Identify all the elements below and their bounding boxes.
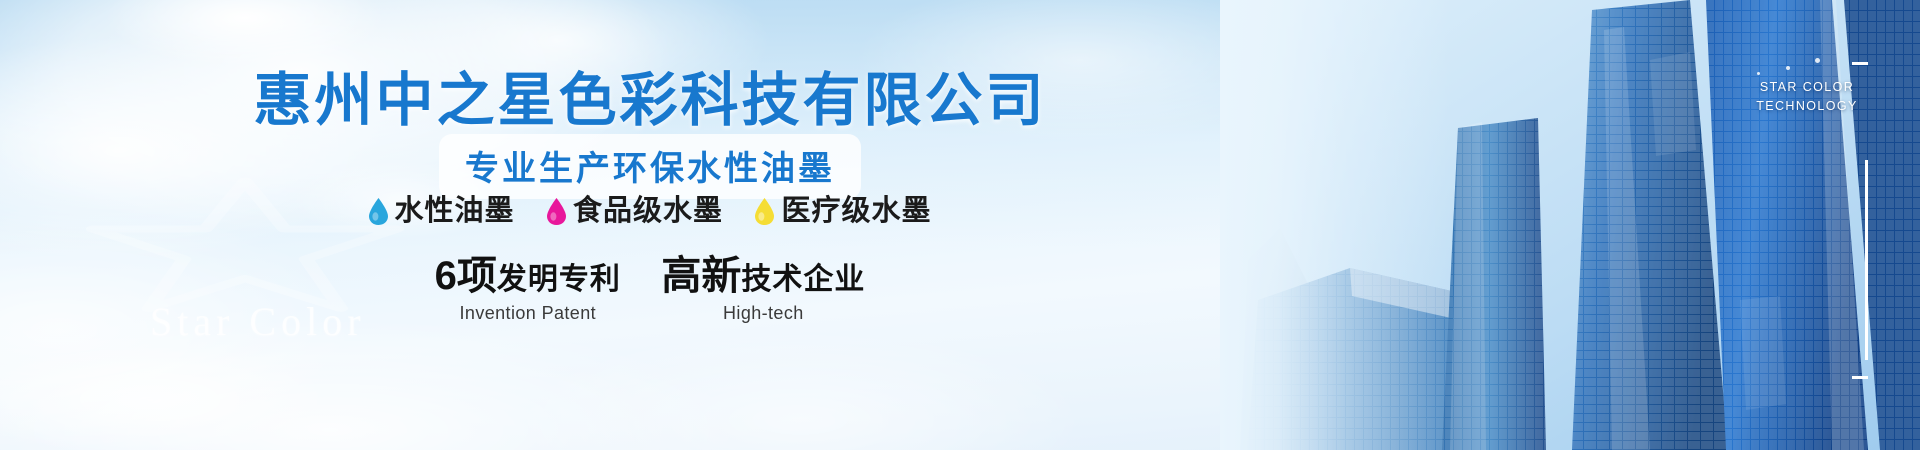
credential-rest: 技术企业 [741, 263, 865, 296]
brand-overlay-line-1: STAR COLOR [1742, 78, 1872, 97]
accent-tick-bottom [1852, 376, 1868, 379]
credential-highlight: 高新 [661, 254, 741, 298]
ink-product-item: 医疗级水墨 [755, 197, 931, 226]
accent-tick-top [1852, 62, 1868, 65]
credential-item-patent: 6项发明专利 Invention Patent [435, 256, 621, 324]
banner-content: 惠州中之星色彩科技有限公司 专业生产环保水性油墨 水性油墨 食品级水墨 [0, 0, 1300, 450]
accent-line-vertical [1865, 160, 1868, 360]
subtitle-container: 专业生产环保水性油墨 [0, 134, 1300, 199]
water-drop-icon [547, 198, 566, 225]
skyscraper-illustration [1220, 0, 1920, 450]
company-hero-banner: Star Color [0, 0, 1920, 450]
sparkle-icon [1786, 66, 1790, 70]
credential-list: 6项发明专利 Invention Patent 高新技术企业 High-tech [0, 256, 1300, 324]
credential-item-hightech: 高新技术企业 High-tech [661, 256, 865, 324]
brand-overlay-text: STAR COLOR TECHNOLOGY [1742, 78, 1872, 117]
water-drop-icon [755, 198, 774, 225]
ink-product-item: 水性油墨 [369, 197, 515, 226]
sparkle-icon [1757, 72, 1760, 75]
credential-highlight: 6项 [435, 254, 497, 298]
ink-product-label: 医疗级水墨 [781, 197, 931, 226]
credential-english: High-tech [661, 303, 865, 324]
company-title: 惠州中之星色彩科技有限公司 [0, 53, 1300, 137]
ink-product-label: 食品级水墨 [573, 197, 723, 226]
credential-rest: 发明专利 [497, 263, 621, 296]
credential-english: Invention Patent [435, 303, 621, 324]
subtitle-pill: 专业生产环保水性油墨 [439, 134, 861, 199]
ink-product-item: 食品级水墨 [547, 197, 723, 226]
sparkle-icon [1815, 58, 1820, 63]
water-drop-icon [369, 198, 388, 225]
ink-product-label: 水性油墨 [395, 197, 515, 226]
brand-overlay-line-2: TECHNOLOGY [1742, 97, 1872, 116]
ink-product-list: 水性油墨 食品级水墨 医疗级水墨 [0, 197, 1300, 226]
